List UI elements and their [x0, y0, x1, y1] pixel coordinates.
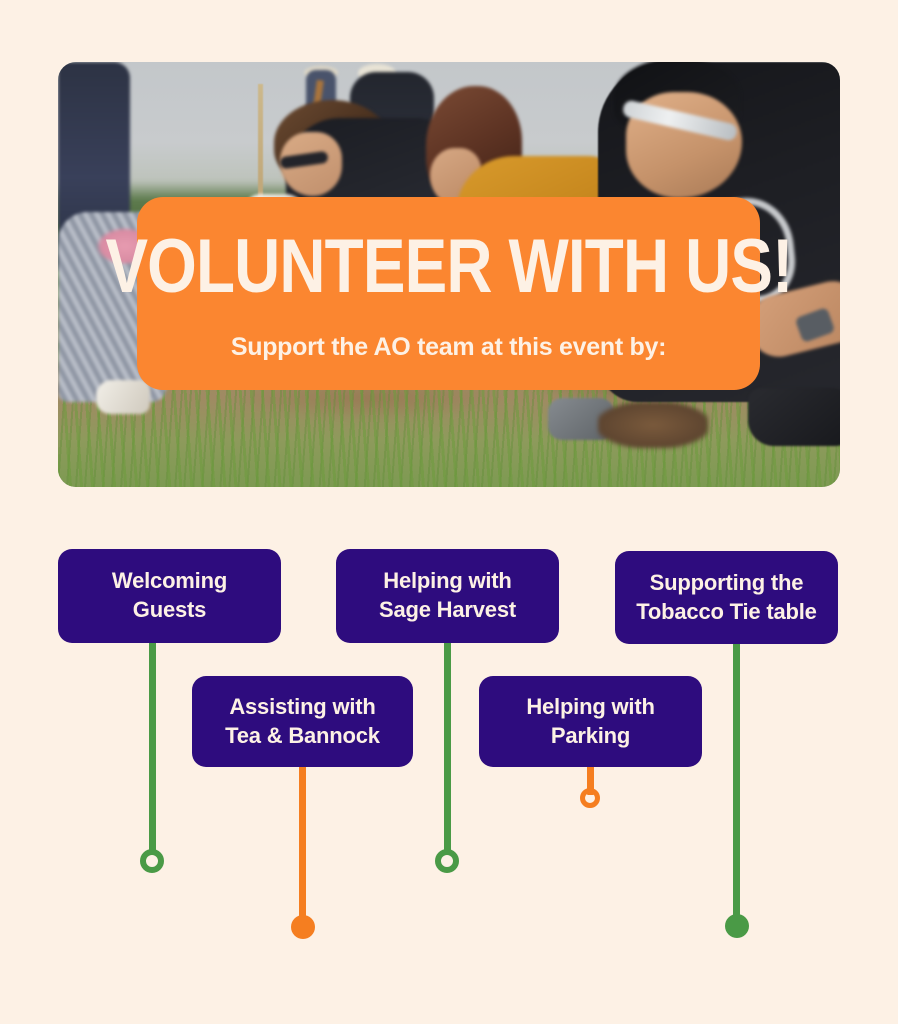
connector-marker-parking	[580, 788, 600, 808]
volunteer-callout-banner: VOLUNTEER WITH US! Support the AO team a…	[137, 197, 760, 390]
task-card-line-2: Guests	[112, 596, 227, 625]
task-card-line-1: Helping with	[526, 693, 654, 722]
task-card-line-1: Assisting with	[225, 693, 380, 722]
connector-line-welcoming-guests	[149, 640, 156, 855]
connector-marker-sage-harvest	[435, 849, 459, 873]
task-card-line-1: Helping with	[379, 567, 516, 596]
callout-subtitle: Support the AO team at this event by:	[231, 333, 666, 362]
photo-shoe-left	[96, 380, 150, 414]
task-card-line-2: Tobacco Tie table	[636, 598, 816, 627]
task-card-sage-harvest[interactable]: Helping with Sage Harvest	[336, 549, 559, 643]
connector-marker-tobacco-tie-table	[725, 914, 749, 938]
hero-photo: VOLUNTEER WITH US! Support the AO team a…	[58, 62, 840, 487]
task-card-line-1: Welcoming	[112, 567, 227, 596]
task-card-welcoming-guests[interactable]: Welcoming Guests	[58, 549, 281, 643]
photo-boot	[748, 388, 840, 446]
task-card-line-1: Supporting the	[636, 569, 816, 598]
connector-line-tea-and-bannock	[299, 764, 306, 924]
connector-marker-welcoming-guests	[140, 849, 164, 873]
connector-line-tobacco-tie-table	[733, 641, 740, 925]
task-card-parking[interactable]: Helping with Parking	[479, 676, 702, 767]
connector-line-sage-harvest	[444, 640, 451, 855]
callout-title: VOLUNTEER WITH US!	[105, 229, 792, 305]
task-card-line-2: Parking	[526, 722, 654, 751]
task-card-line-2: Sage Harvest	[379, 596, 516, 625]
task-card-tea-and-bannock[interactable]: Assisting with Tea & Bannock	[192, 676, 413, 767]
photo-soil-clump	[598, 402, 708, 448]
connector-marker-tea-and-bannock	[291, 915, 315, 939]
task-card-tobacco-tie-table[interactable]: Supporting the Tobacco Tie table	[615, 551, 838, 644]
task-card-line-2: Tea & Bannock	[225, 722, 380, 751]
